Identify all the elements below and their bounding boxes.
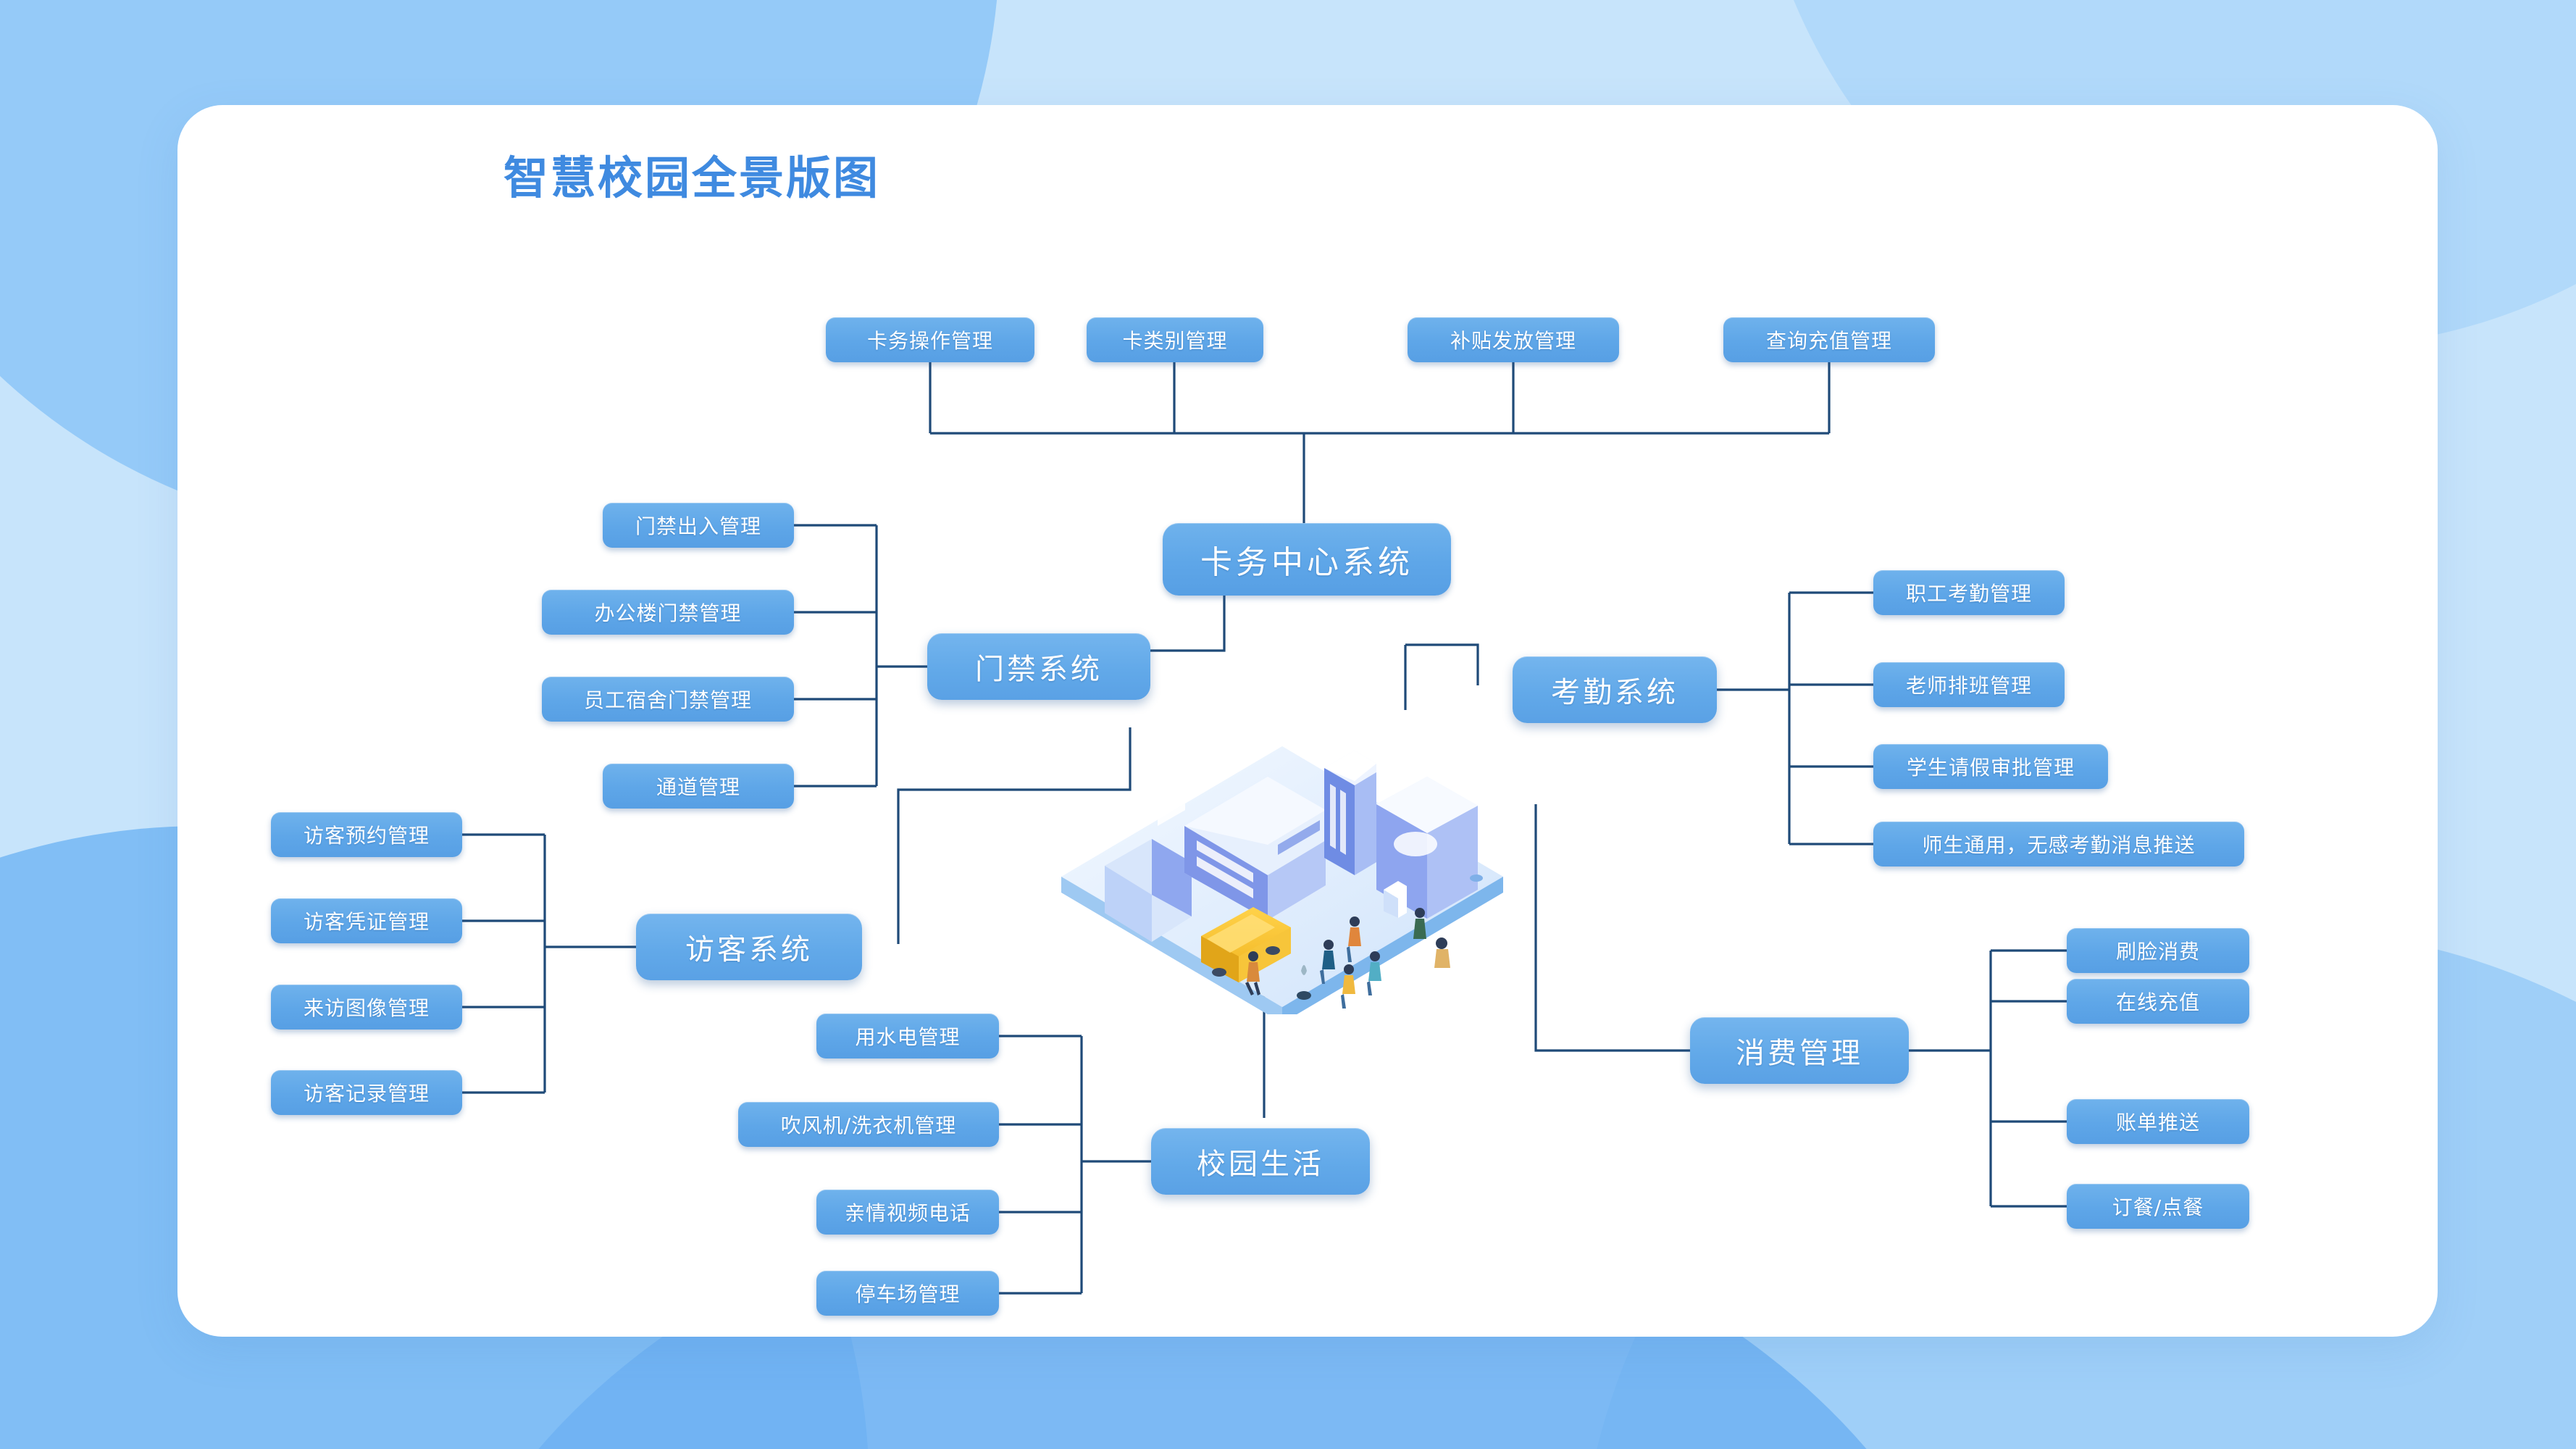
node-subsidy-issuance-management[interactable]: 补贴发放管理 [1408,317,1619,362]
node-card-category-management[interactable]: 卡类别管理 [1087,317,1263,362]
node-teacher-shift-management[interactable]: 老师排班管理 [1873,662,2065,707]
node-water-electricity-management[interactable]: 用水电管理 [816,1014,999,1058]
node-passage-management[interactable]: 通道管理 [603,764,794,809]
node-bill-push[interactable]: 账单推送 [2067,1099,2249,1144]
node-visit-image-management[interactable]: 来访图像管理 [271,985,462,1030]
left-building [1105,783,1192,942]
node-office-building-access-management[interactable]: 办公楼门禁管理 [542,590,794,635]
node-access-control-system[interactable]: 门禁系统 [927,633,1150,700]
node-campus-life[interactable]: 校园生活 [1151,1128,1370,1195]
node-visitor-appointment-management[interactable]: 访客预约管理 [271,812,462,857]
node-online-recharge[interactable]: 在线充值 [2067,979,2249,1024]
node-family-video-call[interactable]: 亲情视频电话 [816,1190,999,1235]
node-access-entry-exit-management[interactable]: 门禁出入管理 [603,503,794,548]
node-staff-dormitory-access-management[interactable]: 员工宿舍门禁管理 [542,677,794,722]
node-card-operation-management[interactable]: 卡务操作管理 [826,317,1034,362]
isometric-campus-illustration [1036,696,1529,1014]
node-visitor-system[interactable]: 访客系统 [636,914,862,980]
node-consumption-management[interactable]: 消费管理 [1690,1017,1909,1084]
node-query-recharge-management[interactable]: 查询充值管理 [1723,317,1935,362]
node-staff-attendance-management[interactable]: 职工考勤管理 [1873,570,2065,615]
tower-building [1324,751,1376,875]
node-student-leave-approval-management[interactable]: 学生请假审批管理 [1873,744,2108,789]
node-meal-ordering[interactable]: 订餐/点餐 [2067,1184,2249,1229]
node-hairdryer-washer-management[interactable]: 吹风机/洗衣机管理 [738,1102,999,1147]
node-universal-contactless-attendance-push[interactable]: 师生通用，无感考勤消息推送 [1873,822,2244,867]
node-parking-lot-management[interactable]: 停车场管理 [816,1271,999,1316]
node-attendance-system[interactable]: 考勤系统 [1513,656,1717,723]
node-visitor-record-management[interactable]: 访客记录管理 [271,1070,462,1115]
node-visitor-credential-management[interactable]: 访客凭证管理 [271,898,462,943]
node-card-center-system[interactable]: 卡务中心系统 [1163,523,1451,596]
node-face-recognition-payment[interactable]: 刷脸消费 [2067,928,2249,973]
